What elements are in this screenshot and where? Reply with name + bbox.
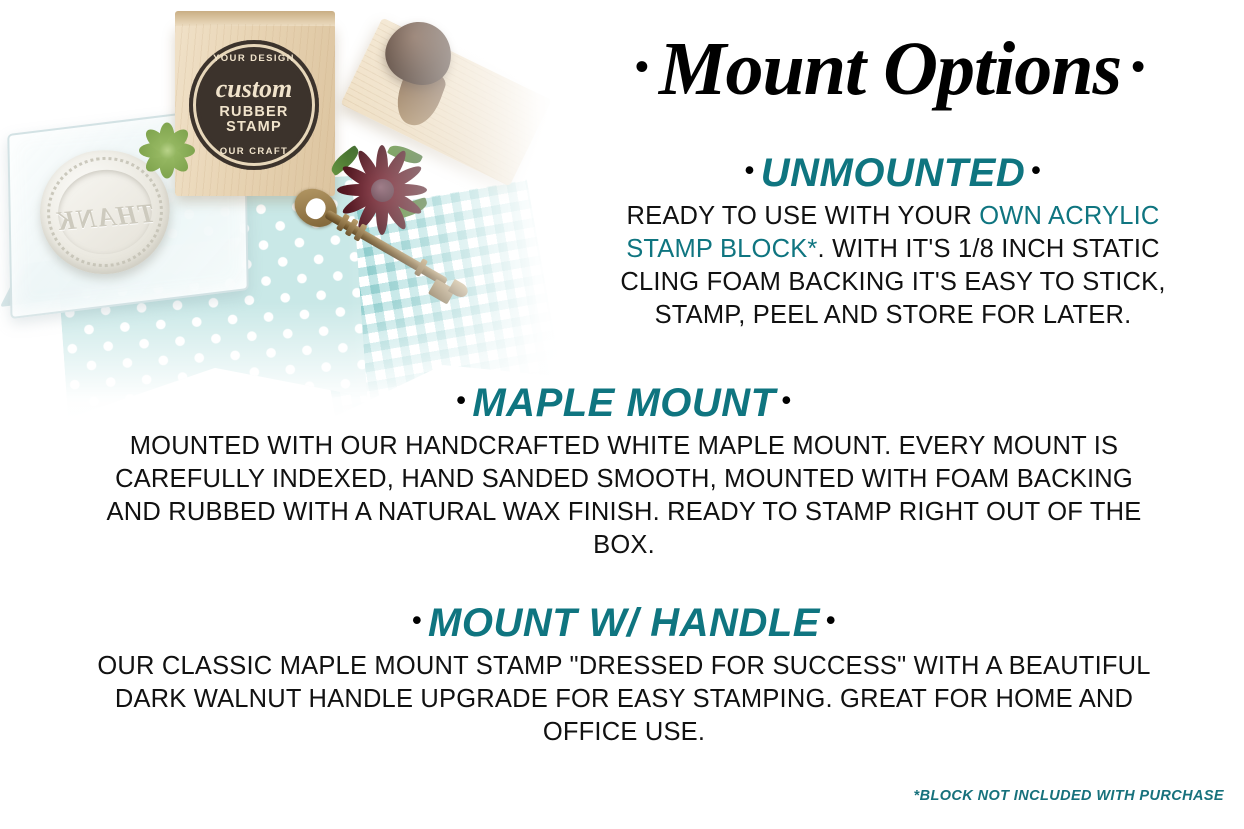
heading-bullet-right: • (820, 605, 842, 635)
page-title-text: Mount Options (649, 27, 1131, 111)
body-line: DARK WALNUT HANDLE UPGRADE FOR EASY STAM… (32, 683, 1216, 716)
section-body-mount-with-handle: OUR CLASSIC MAPLE MOUNT STAMP "DRESSED F… (32, 650, 1216, 749)
custom-rubber-stamp-logo: YOUR DESIGN custom RUBBER STAMP OUR CRAF… (189, 40, 319, 170)
heading-text: UNMOUNTED (761, 151, 1025, 195)
section-mount-with-handle: •MOUNT W/ HANDLE• OUR CLASSIC MAPLE MOUN… (32, 602, 1216, 749)
flower-center (371, 179, 394, 202)
body-line: OFFICE USE. (32, 716, 1216, 749)
section-heading-unmounted: •UNMOUNTED• (568, 152, 1218, 194)
body-line: MOUNTED WITH OUR HANDCRAFTED WHITE MAPLE… (32, 430, 1216, 463)
heading-bullet-left: • (450, 385, 472, 415)
section-heading-mount-with-handle: •MOUNT W/ HANDLE• (32, 602, 1216, 644)
product-photo: THANK YOUR DESIGN custom RUBBER STAMP OU… (0, 0, 560, 420)
title-bullet-right: • (1131, 44, 1145, 89)
body-span: READY TO USE WITH YOUR (627, 202, 980, 230)
body-line: OUR CLASSIC MAPLE MOUNT STAMP "DRESSED F… (32, 650, 1216, 683)
body-line: AND RUBBED WITH A NATURAL WAX FINISH. RE… (32, 496, 1216, 529)
section-unmounted: •UNMOUNTED• READY TO USE WITH YOUR OWN A… (568, 152, 1218, 333)
heading-bullet-right: • (776, 385, 798, 415)
page-title: •Mount Options• (560, 26, 1220, 113)
section-body-maple-mount: MOUNTED WITH OUR HANDCRAFTED WHITE MAPLE… (32, 430, 1216, 563)
footnote-block-not-included: *BLOCK NOT INCLUDED WITH PURCHASE (914, 788, 1224, 804)
logo-arc-bottom-text: OUR CRAFT (189, 146, 319, 157)
logo-line3-text: STAMP (226, 120, 282, 135)
heading-bullet-left: • (406, 605, 428, 635)
logo-script-text: custom (216, 76, 293, 102)
heading-bullet-left: • (739, 155, 761, 185)
body-line: STAMP BLOCK*. WITH IT'S 1/8 INCH STATIC (568, 233, 1218, 266)
body-line: CAREFULLY INDEXED, HAND SANDED SMOOTH, M… (32, 463, 1216, 496)
body-span: . WITH IT'S 1/8 INCH STATIC (818, 235, 1160, 263)
body-line: BOX. (32, 529, 1216, 562)
body-line: READY TO USE WITH YOUR OWN ACRYLIC (568, 200, 1218, 233)
body-line: STAMP, PEEL AND STORE FOR LATER. (568, 299, 1218, 332)
section-heading-maple-mount: •MAPLE MOUNT• (32, 382, 1216, 424)
heading-bullet-right: • (1025, 155, 1047, 185)
body-span-accent: OWN ACRYLIC (979, 202, 1159, 230)
heading-text: MAPLE MOUNT (472, 381, 775, 425)
succulent-plant (136, 121, 198, 179)
title-bullet-left: • (635, 44, 649, 89)
heading-text: MOUNT W/ HANDLE (428, 601, 820, 645)
mount-options-infographic: THANK YOUR DESIGN custom RUBBER STAMP OU… (0, 0, 1244, 829)
succulent-center (159, 142, 176, 159)
logo-line2-text: RUBBER (219, 105, 288, 120)
section-maple-mount: •MAPLE MOUNT• MOUNTED WITH OUR HANDCRAFT… (32, 382, 1216, 563)
maple-mounted-stamp: YOUR DESIGN custom RUBBER STAMP OUR CRAF… (175, 24, 335, 196)
body-span-accent: STAMP BLOCK* (626, 235, 817, 263)
section-body-unmounted: READY TO USE WITH YOUR OWN ACRYLIC STAMP… (568, 200, 1218, 333)
body-line: CLING FOAM BACKING IT'S EASY TO STICK, (568, 266, 1218, 299)
